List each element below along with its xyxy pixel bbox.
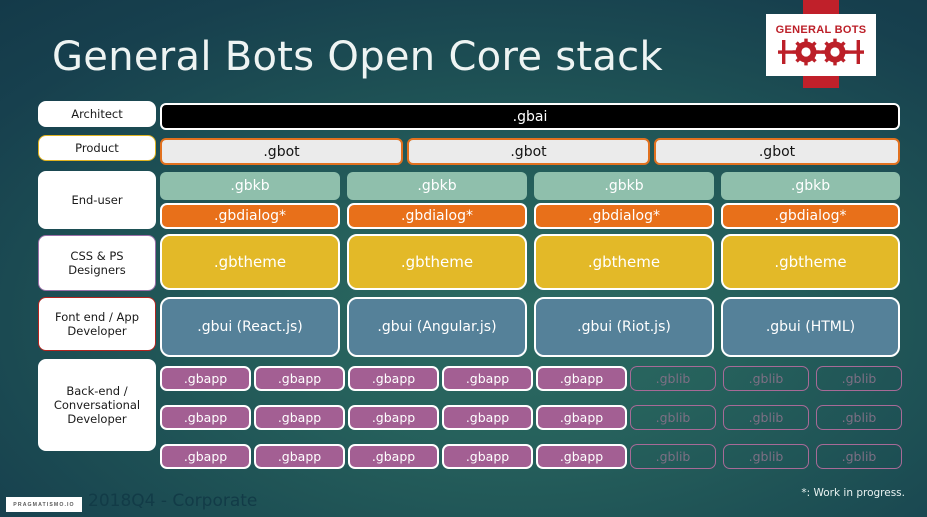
role-label-5: Back-end /ConversationalDeveloper: [38, 359, 156, 451]
cell-label: .gbkb: [417, 178, 456, 194]
cell-label: .gblib: [842, 371, 877, 386]
cell-label: .gbtheme: [774, 253, 846, 271]
cell-label: .gbtheme: [214, 253, 286, 271]
gbapp-row-1-cell-6: .gblib: [723, 366, 809, 391]
cell-label: .gbot: [759, 144, 795, 160]
cell-label: .gbapp: [278, 449, 321, 464]
gbkb-row-cell-1: .gbkb: [347, 172, 527, 200]
cell-label: .gblib: [749, 449, 784, 464]
gbapp-row-3-cell-6: .gblib: [723, 444, 809, 469]
gbapp-row-1-cell-4: .gbapp: [536, 366, 627, 391]
role-label-4: Font end / AppDeveloper: [38, 297, 156, 351]
gbtheme-row-cell-1: .gbtheme: [347, 234, 527, 290]
cell-label: .gbdialog*: [775, 208, 847, 224]
role-label-text: End-user: [71, 193, 122, 207]
pragmatismo-logo: PRAGMATISMO.IO: [6, 497, 82, 512]
gbapp-row-1-cell-7: .gblib: [816, 366, 902, 391]
gbapp-row-2-cell-6: .gblib: [723, 405, 809, 430]
cell-label: .gblib: [656, 449, 691, 464]
cell-label: .gbapp: [372, 371, 415, 386]
role-label-3: CSS & PSDesigners: [38, 235, 156, 291]
gbkb-row-cell-2: .gbkb: [534, 172, 714, 200]
gbkb-row-cell-3: .gbkb: [721, 172, 900, 200]
slide-canvas: GENERAL BOTS: [0, 0, 927, 517]
gbapp-row-3-cell-0: .gbapp: [160, 444, 251, 469]
cell-label: .gbapp: [372, 410, 415, 425]
cell-label: .gbapp: [278, 371, 321, 386]
gbapp-row-2-cell-0: .gbapp: [160, 405, 251, 430]
gbapp-row-1-cell-5: .gblib: [630, 366, 716, 391]
gbapp-row-2-cell-4: .gbapp: [536, 405, 627, 430]
cell-label: .gbui (React.js): [197, 319, 302, 335]
cell-label: .gblib: [656, 410, 691, 425]
cell-label: .gbtheme: [401, 253, 473, 271]
cell-label: .gblib: [749, 371, 784, 386]
cell-label: .gbui (HTML): [766, 319, 855, 335]
gbapp-row-2-cell-5: .gblib: [630, 405, 716, 430]
role-label-text: Font end / AppDeveloper: [55, 310, 139, 338]
gbdialog-row-cell-3: .gbdialog*: [721, 203, 900, 229]
gbot-row-cell-2: .gbot: [654, 138, 900, 165]
cell-label: .gblib: [842, 449, 877, 464]
cell-label: .gblib: [842, 410, 877, 425]
cell-label: .gbdialog*: [401, 208, 473, 224]
gbapp-row-3-cell-5: .gblib: [630, 444, 716, 469]
cell-label: .gbkb: [230, 178, 269, 194]
cell-label: .gbdialog*: [214, 208, 286, 224]
gbot-row-cell-0: .gbot: [160, 138, 403, 165]
gbui-row-cell-1: .gbui (Angular.js): [347, 297, 527, 357]
cell-label: .gbapp: [560, 410, 603, 425]
cell-label: .gbapp: [278, 410, 321, 425]
gbui-row-cell-2: .gbui (Riot.js): [534, 297, 714, 357]
cell-label: .gbapp: [184, 371, 227, 386]
gbdialog-row-cell-2: .gbdialog*: [534, 203, 714, 229]
cell-label: .gbapp: [184, 410, 227, 425]
gbapp-row-3-cell-2: .gbapp: [348, 444, 439, 469]
gbapp-row-1-cell-1: .gbapp: [254, 366, 345, 391]
cell-label: .gbkb: [604, 178, 643, 194]
cell-label: .gblib: [656, 371, 691, 386]
role-label-0: Architect: [38, 101, 156, 127]
role-label-2: End-user: [38, 171, 156, 229]
stack-diagram: .gbai.gbot.gbot.gbot.gbkb.gbkb.gbkb.gbkb…: [160, 0, 900, 517]
gbui-row-cell-3: .gbui (HTML): [721, 297, 900, 357]
gbkb-row-cell-0: .gbkb: [160, 172, 340, 200]
role-label-text: CSS & PSDesigners: [68, 249, 126, 277]
gbtheme-row-cell-3: .gbtheme: [721, 234, 900, 290]
gbapp-row-1-cell-3: .gbapp: [442, 366, 533, 391]
cell-label: .gbapp: [466, 371, 509, 386]
cell-label: .gblib: [749, 410, 784, 425]
gbdialog-row-cell-1: .gbdialog*: [347, 203, 527, 229]
cell-label: .gbapp: [372, 449, 415, 464]
gbapp-row-1-cell-0: .gbapp: [160, 366, 251, 391]
gbapp-row-2-cell-3: .gbapp: [442, 405, 533, 430]
cell-label: .gbtheme: [588, 253, 660, 271]
cell-label: .gbdialog*: [588, 208, 660, 224]
gbtheme-row-cell-0: .gbtheme: [160, 234, 340, 290]
pragmatismo-wordmark: PRAGMATISMO.IO: [13, 502, 74, 508]
cell-label: .gbkb: [791, 178, 830, 194]
role-label-1: Product: [38, 135, 156, 161]
gbdialog-row-cell-0: .gbdialog*: [160, 203, 340, 229]
gbapp-row-3-cell-7: .gblib: [816, 444, 902, 469]
gbapp-row-3-cell-4: .gbapp: [536, 444, 627, 469]
gbui-row-cell-0: .gbui (React.js): [160, 297, 340, 357]
cell-label: .gbot: [263, 144, 299, 160]
cell-label: .gbapp: [184, 449, 227, 464]
cell-label: .gbapp: [466, 449, 509, 464]
cell-label: .gbapp: [560, 449, 603, 464]
gbapp-row-2-cell-1: .gbapp: [254, 405, 345, 430]
gbapp-row-3-cell-3: .gbapp: [442, 444, 533, 469]
cell-label: .gbot: [510, 144, 546, 160]
role-label-text: Product: [75, 141, 119, 155]
cell-label: .gbapp: [466, 410, 509, 425]
work-in-progress-note: *: Work in progress.: [801, 487, 905, 499]
gbapp-row-1-cell-2: .gbapp: [348, 366, 439, 391]
footer-label: 2018Q4 - Corporate: [88, 491, 257, 511]
gbapp-row-2-cell-7: .gblib: [816, 405, 902, 430]
role-label-text: Architect: [71, 107, 123, 121]
gbapp-row-2-cell-2: .gbapp: [348, 405, 439, 430]
gbot-row-cell-1: .gbot: [407, 138, 650, 165]
cell-label: .gbui (Riot.js): [577, 319, 671, 335]
gbtheme-row-cell-2: .gbtheme: [534, 234, 714, 290]
cell-label: .gbapp: [560, 371, 603, 386]
gbai-row-cell-0: .gbai: [160, 103, 900, 130]
cell-label: .gbai: [513, 109, 548, 125]
gbapp-row-3-cell-1: .gbapp: [254, 444, 345, 469]
cell-label: .gbui (Angular.js): [377, 319, 496, 335]
role-label-text: Back-end /ConversationalDeveloper: [54, 384, 140, 426]
